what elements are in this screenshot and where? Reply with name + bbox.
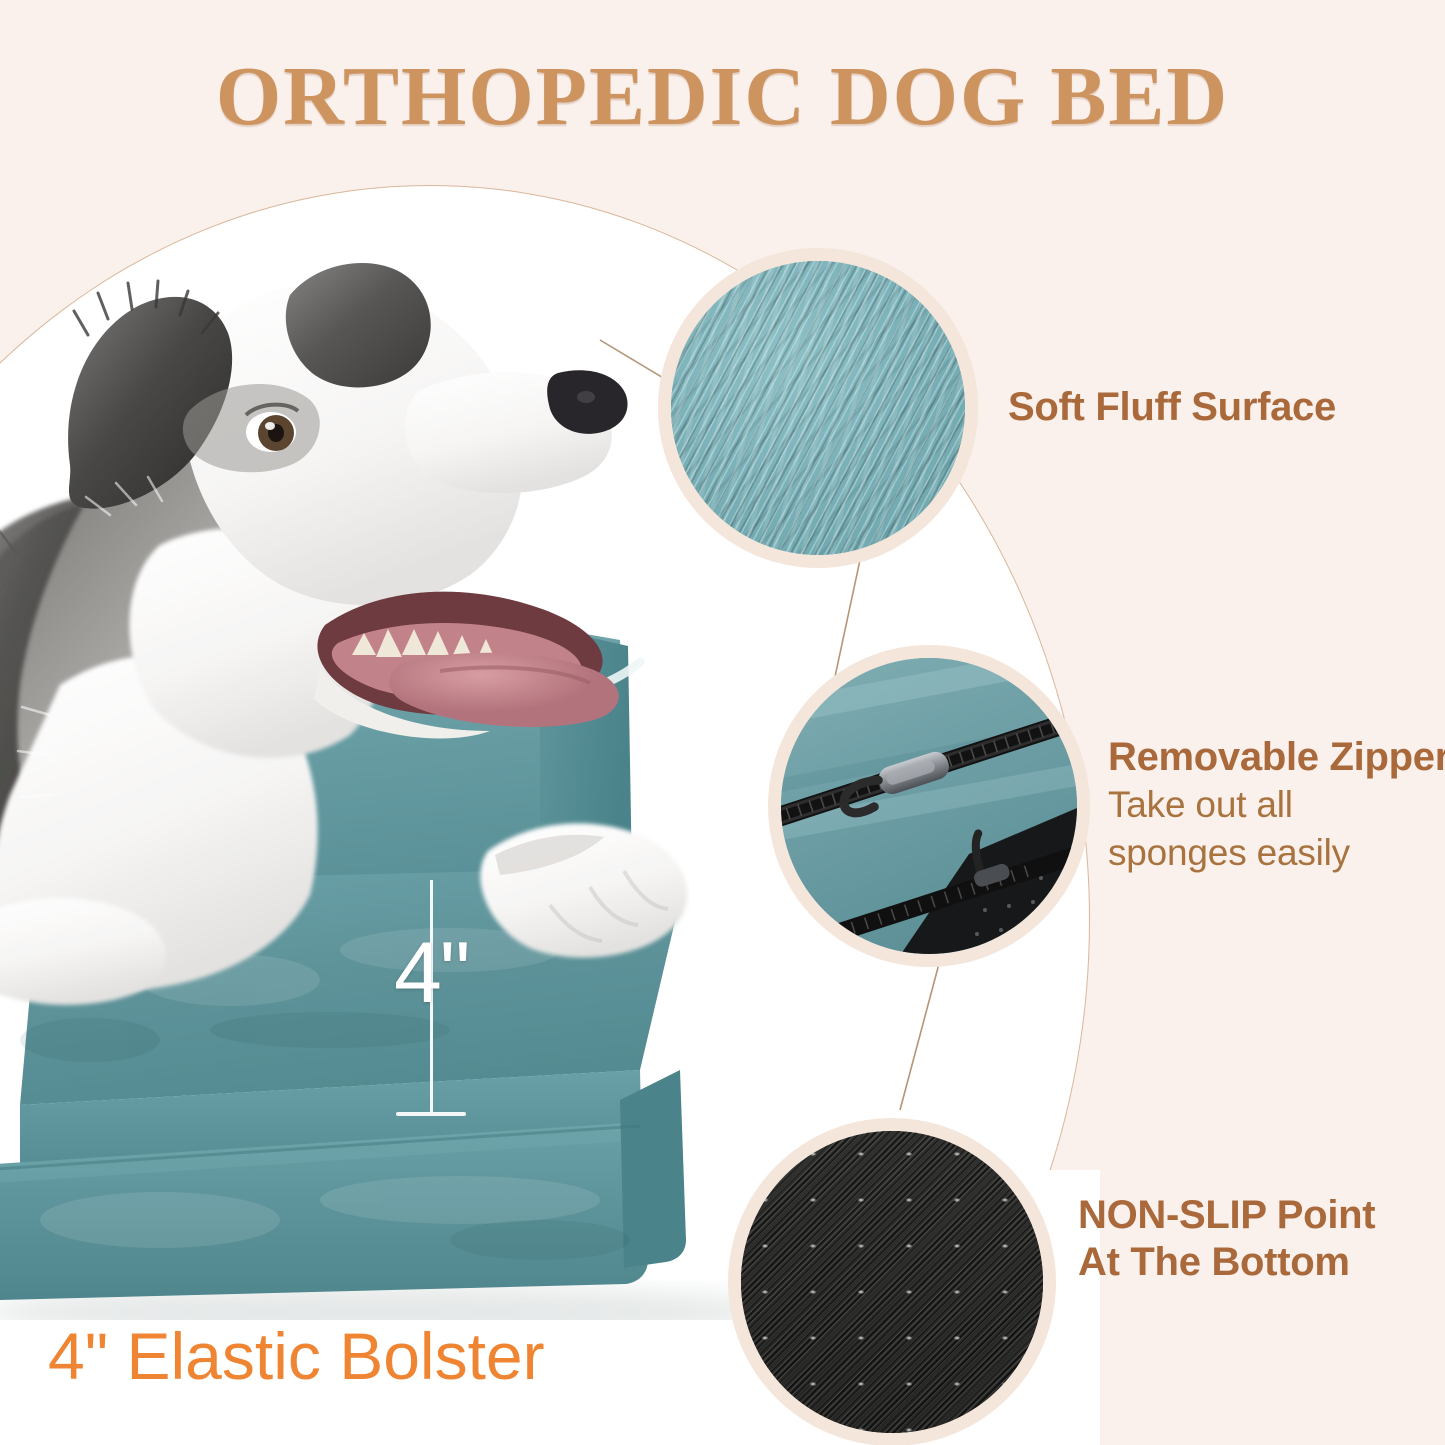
bolster-height-dimension: 4": [398, 880, 518, 1115]
dimension-value: 4": [394, 930, 468, 1016]
dog-photo-illustration: [0, 215, 690, 1055]
feature-label-non-slip: NON-SLIP Point At The Bottom: [1078, 1192, 1375, 1286]
feature-swatch-non-slip: [728, 1118, 1056, 1445]
feature-subtext-removable-zipper: Take out all sponges easily: [1108, 781, 1438, 877]
feature-label-soft-fluff: Soft Fluff Surface: [1008, 384, 1336, 431]
fluff-texture-swatch: [671, 261, 965, 555]
feature-heading-soft-fluff: Soft Fluff Surface: [1008, 384, 1336, 431]
bolster-caption: 4" Elastic Bolster: [48, 1318, 545, 1394]
feature-swatch-removable-zipper: [768, 645, 1090, 967]
page-title: ORTHOPEDIC DOG BED: [0, 48, 1445, 145]
feature-heading-non-slip-line2: At The Bottom: [1078, 1239, 1375, 1286]
feature-heading-removable-zipper: Removable Zipper: [1108, 734, 1445, 781]
feature-label-removable-zipper: Removable Zipper Take out all sponges ea…: [1108, 734, 1445, 877]
dimension-cap-bottom: [396, 1112, 466, 1116]
non-slip-texture-swatch: [741, 1131, 1043, 1433]
non-slip-texture-fill: [741, 1131, 1043, 1433]
zipper-scene: [781, 658, 1077, 954]
infographic-canvas: ORTHOPEDIC DOG BED: [0, 0, 1445, 1445]
fluff-texture-fill: [671, 261, 965, 555]
zipper-photo-swatch: [781, 658, 1077, 954]
feature-heading-non-slip-line1: NON-SLIP Point: [1078, 1192, 1375, 1239]
feature-swatch-soft-fluff: [658, 248, 978, 568]
